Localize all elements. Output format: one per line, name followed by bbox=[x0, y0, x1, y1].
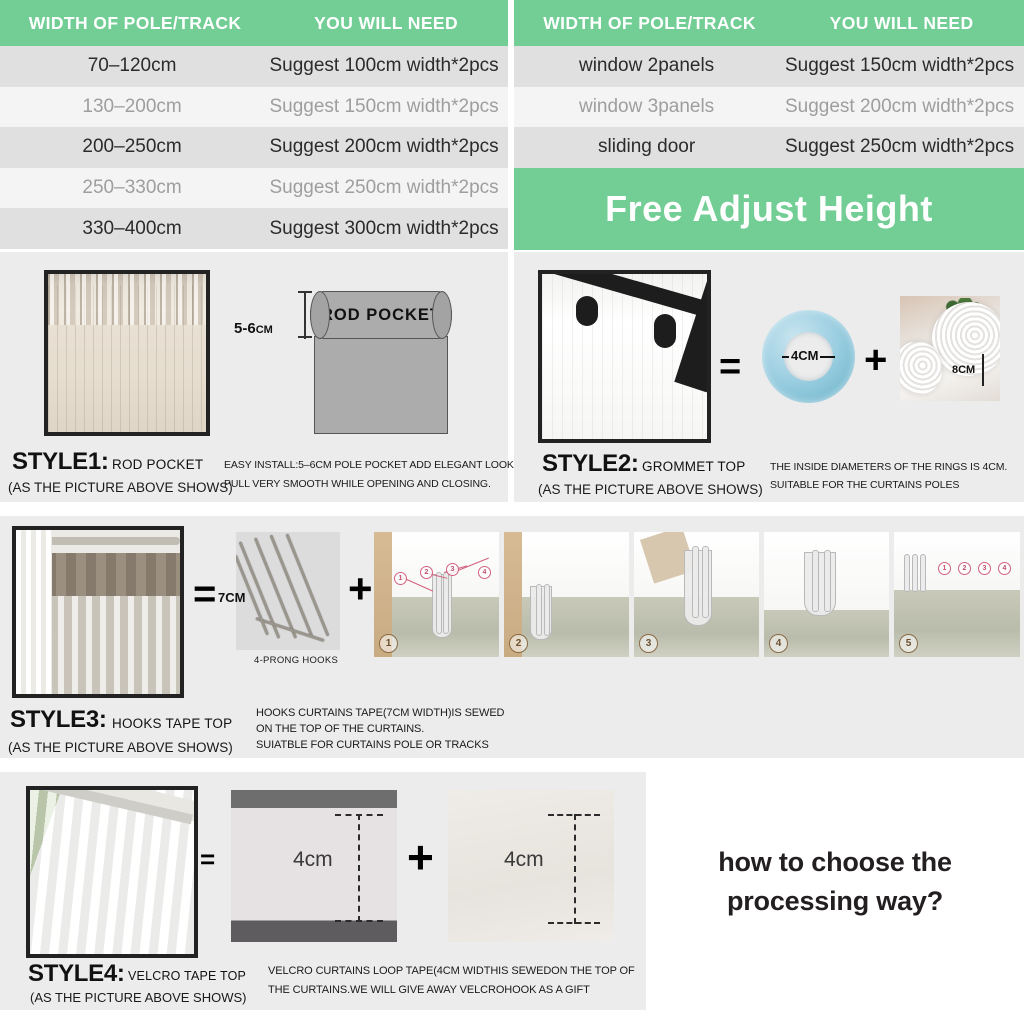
table-header-row-left: WIDTH OF POLE/TRACK YOU WILL NEED bbox=[0, 0, 508, 46]
marker-3: 3 bbox=[978, 562, 991, 575]
cell-width: 250–330cm bbox=[0, 177, 264, 199]
marker-1: 1 bbox=[394, 572, 407, 585]
cell-width: window 3panels bbox=[514, 96, 779, 118]
style2-desc-line1: THE INSIDE DIAMETERS OF THE RINGS IS 4CM… bbox=[770, 460, 1007, 475]
question-line1: how to choose the bbox=[660, 843, 1010, 882]
cell-need: Suggest 200cm width*2pcs bbox=[264, 136, 508, 158]
table-row: window 2panels Suggest 150cm width*2pcs bbox=[514, 46, 1024, 87]
style3-equals-sign: = bbox=[193, 574, 216, 614]
closing-question: how to choose the processing way? bbox=[660, 843, 1010, 921]
style3-subtitle: HOOKS TAPE TOP bbox=[112, 716, 232, 731]
rod-pocket-label: ROD POCKET bbox=[321, 306, 441, 325]
style3-desc-line2: ON THE TOP OF THE CURTAINS. bbox=[256, 722, 424, 738]
cell-width: 200–250cm bbox=[0, 136, 264, 158]
step-photo-2: 2 bbox=[504, 532, 629, 657]
ring-dimension-label: 4CM bbox=[789, 348, 820, 363]
marker-2: 2 bbox=[420, 566, 433, 579]
style1-desc-line1: EASY INSTALL:5–6CM POLE POCKET ADD ELEGA… bbox=[224, 458, 514, 473]
column-header-width: WIDTH OF POLE/TRACK bbox=[0, 13, 264, 34]
style1-curtain-photo bbox=[44, 270, 210, 436]
marker-3: 3 bbox=[446, 563, 459, 576]
style1-panel: 5-6CM ROD POCKET STYLE1: ROD POCKET (AS … bbox=[0, 252, 508, 502]
velcro-label-a: 4cm bbox=[293, 848, 333, 872]
cell-width: sliding door bbox=[514, 136, 779, 158]
question-line2: processing way? bbox=[660, 882, 1010, 921]
hook-caption: 4-PRONG HOOKS bbox=[254, 654, 338, 668]
style3-desc-line1: HOOKS CURTAINS TAPE(7CM WIDTH)IS SEWED bbox=[256, 706, 504, 722]
style4-note: (AS THE PICTURE ABOVE SHOWS) bbox=[30, 990, 246, 1005]
cell-need: Suggest 300cm width*2pcs bbox=[264, 218, 508, 240]
rod-pocket-cap-right bbox=[432, 291, 452, 339]
marker-4: 4 bbox=[998, 562, 1011, 575]
style2-note: (AS THE PICTURE ABOVE SHOWS) bbox=[538, 482, 763, 497]
table-row: window 3panels Suggest 200cm width*2pcs bbox=[514, 87, 1024, 128]
column-header-need: YOU WILL NEED bbox=[264, 13, 508, 34]
table-header-row-right: WIDTH OF POLE/TRACK YOU WILL NEED bbox=[514, 0, 1024, 46]
style1-title: STYLE1: bbox=[12, 448, 109, 476]
rod-pocket-tube: ROD POCKET bbox=[310, 291, 452, 339]
style3-panel: = 7CM 4-PRONG HOOKS + 1 2 3 4 1 bbox=[0, 516, 1024, 758]
step-number: 1 bbox=[379, 634, 398, 653]
style1-desc-line2: PULL VERY SMOOTH WHILE OPENING AND CLOSI… bbox=[224, 477, 491, 492]
rod-pocket-cap-left bbox=[310, 291, 330, 339]
style3-plus-sign: + bbox=[348, 568, 373, 610]
velcro-tape-roll-photo: 8CM bbox=[900, 296, 1000, 401]
style2-equals-sign: = bbox=[719, 348, 741, 386]
style2-subtitle: GROMMET TOP bbox=[642, 459, 745, 474]
column-header-width: WIDTH OF POLE/TRACK bbox=[514, 13, 779, 34]
style1-subtitle: ROD POCKET bbox=[112, 457, 203, 472]
style4-desc-line2: THE CURTAINS.WE WILL GIVE AWAY VELCROHOO… bbox=[268, 983, 590, 999]
rod-pocket-diagram: 5-6CM ROD POCKET bbox=[232, 272, 482, 432]
rod-pocket-fabric-body bbox=[314, 336, 448, 434]
style2-curtain-photo bbox=[538, 270, 711, 443]
style4-panel: = 4cm + 4cm STYLE4: VELCRO TAPE TOP (AS … bbox=[0, 772, 646, 1010]
marker-4: 4 bbox=[478, 566, 491, 579]
cell-need: Suggest 150cm width*2pcs bbox=[264, 96, 508, 118]
cell-width: 130–200cm bbox=[0, 96, 264, 118]
style3-title: STYLE3: bbox=[10, 706, 107, 734]
marker-2: 2 bbox=[958, 562, 971, 575]
step-number: 4 bbox=[769, 634, 788, 653]
style3-desc-line3: SUIATBLE FOR CURTAINS POLE OR TRACKS bbox=[256, 738, 489, 754]
step-number: 5 bbox=[899, 634, 918, 653]
style4-plus-sign: + bbox=[407, 834, 434, 880]
table-row: 200–250cm Suggest 200cm width*2pcs bbox=[0, 127, 508, 168]
style3-note: (AS THE PICTURE ABOVE SHOWS) bbox=[8, 740, 233, 755]
style4-curtain-photo bbox=[26, 786, 198, 958]
style2-desc-line2: SUITABLE FOR THE CURTAINS POLES bbox=[770, 478, 959, 493]
step-number: 3 bbox=[639, 634, 658, 653]
style4-equals-sign: = bbox=[200, 846, 215, 872]
step-number: 2 bbox=[509, 634, 528, 653]
dim-cap-top bbox=[298, 291, 312, 293]
table-row: 330–400cm Suggest 300cm width*2pcs bbox=[0, 208, 508, 249]
infographic-page: WIDTH OF POLE/TRACK YOU WILL NEED 70–120… bbox=[0, 0, 1024, 1024]
column-header-need: YOU WILL NEED bbox=[779, 13, 1024, 34]
step-photo-3: 3 bbox=[634, 532, 759, 657]
table-row: sliding door Suggest 250cm width*2pcs bbox=[514, 127, 1024, 168]
style4-subtitle: VELCRO TAPE TOP bbox=[128, 969, 246, 983]
rod-pocket-dimension: 5-6CM bbox=[234, 320, 273, 337]
cell-need: Suggest 100cm width*2pcs bbox=[264, 55, 508, 77]
style2-plus-sign: + bbox=[864, 340, 887, 380]
cell-need: Suggest 200cm width*2pcs bbox=[779, 96, 1024, 118]
size-table-left: WIDTH OF POLE/TRACK YOU WILL NEED 70–120… bbox=[0, 0, 508, 250]
size-table-right: WIDTH OF POLE/TRACK YOU WILL NEED window… bbox=[514, 0, 1024, 250]
cell-width: 330–400cm bbox=[0, 218, 264, 240]
style3-curtain-photo bbox=[12, 526, 184, 698]
dim-cap-bottom bbox=[298, 336, 312, 338]
table-row: 130–200cm Suggest 150cm width*2pcs bbox=[0, 87, 508, 128]
four-prong-hooks-photo bbox=[236, 532, 340, 650]
free-adjust-height-banner: Free Adjust Height bbox=[514, 168, 1024, 250]
style2-title: STYLE2: bbox=[542, 450, 639, 478]
marker-1: 1 bbox=[938, 562, 951, 575]
dim-bar bbox=[304, 294, 306, 338]
step-photo-4: 4 bbox=[764, 532, 889, 657]
style4-desc-line1: VELCRO CURTAINS LOOP TAPE(4CM WIDTHIS SE… bbox=[268, 964, 635, 980]
table-row: 70–120cm Suggest 100cm width*2pcs bbox=[0, 46, 508, 87]
cell-need: Suggest 250cm width*2pcs bbox=[779, 136, 1024, 158]
cell-width: 70–120cm bbox=[0, 55, 264, 77]
tape-dimension-label: 8CM bbox=[952, 364, 975, 376]
style1-note: (AS THE PICTURE ABOVE SHOWS) bbox=[8, 480, 233, 495]
step-photo-1: 1 2 3 4 1 bbox=[374, 532, 499, 657]
step-photo-5: 1 2 3 4 5 bbox=[894, 532, 1020, 657]
table-row: 250–330cm Suggest 250cm width*2pcs bbox=[0, 168, 508, 209]
velcro-label-b: 4cm bbox=[504, 848, 544, 872]
cell-width: window 2panels bbox=[514, 55, 779, 77]
cell-need: Suggest 250cm width*2pcs bbox=[264, 177, 508, 199]
velcro-hook-photo: 4cm bbox=[448, 790, 614, 942]
velcro-loop-photo: 4cm bbox=[231, 790, 397, 942]
style2-panel: = 4CM + 8CM STYLE2: GROMMET TOP (AS THE … bbox=[514, 252, 1024, 502]
style4-title: STYLE4: bbox=[28, 960, 125, 988]
size-guide-tables: WIDTH OF POLE/TRACK YOU WILL NEED 70–120… bbox=[0, 0, 1024, 250]
hook-dimension-label: 7CM bbox=[218, 590, 245, 605]
cell-need: Suggest 150cm width*2pcs bbox=[779, 55, 1024, 77]
